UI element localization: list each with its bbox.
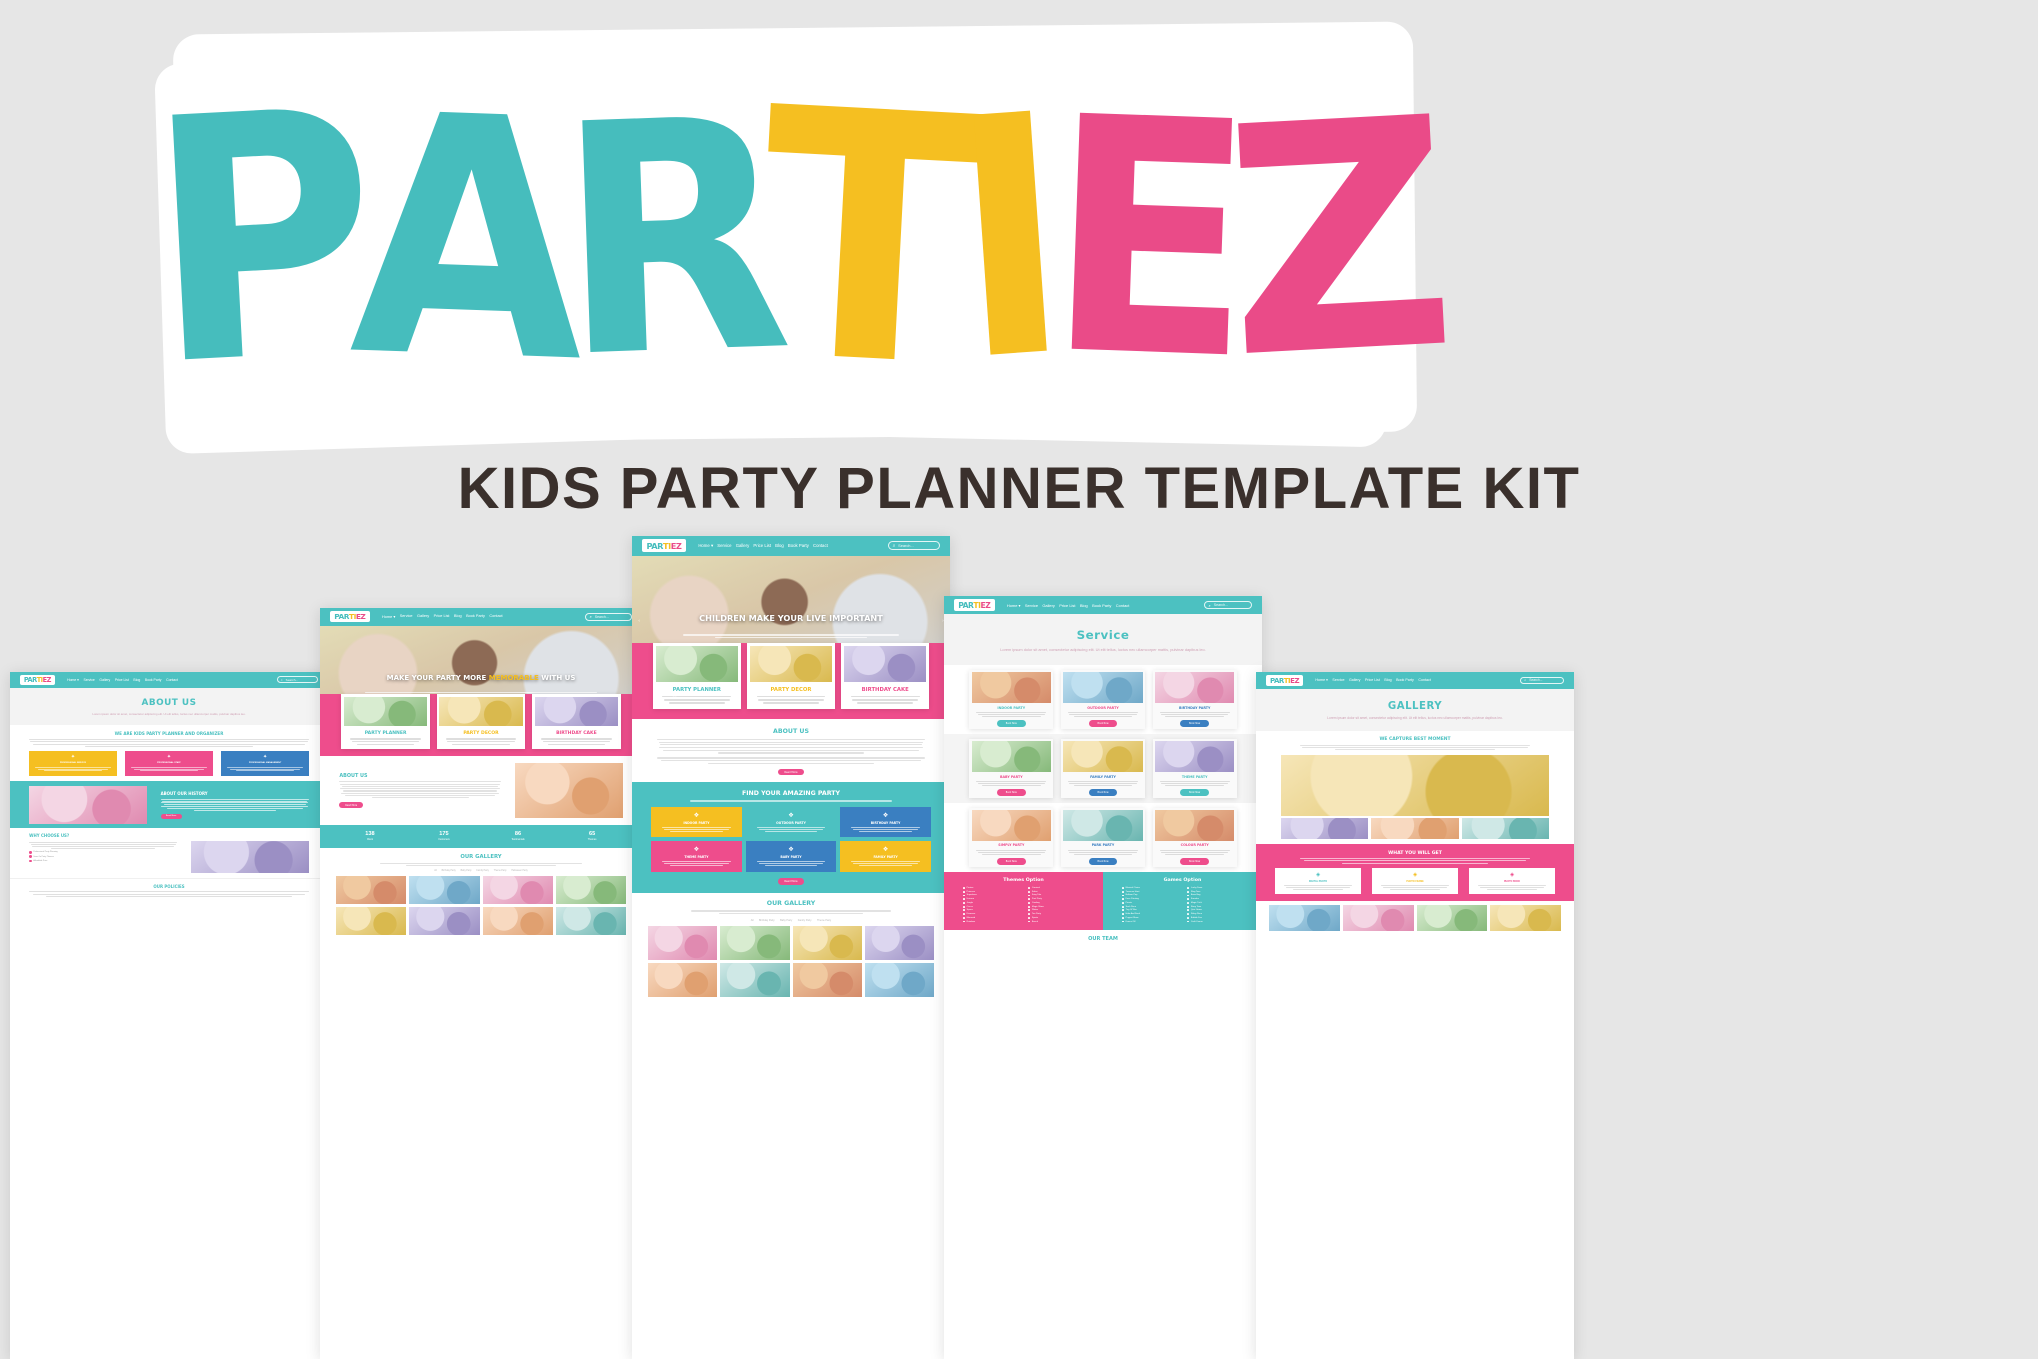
option-item[interactable]: Mermaid (963, 917, 1019, 919)
tile-label: THEME PARTY (653, 855, 739, 859)
photo-thumbnail (409, 876, 479, 904)
get-card-body (1277, 885, 1359, 889)
nav-item-book-party[interactable]: Book Party (466, 614, 485, 619)
feature-label: PROFESSIONAL MANAGEMENT (223, 762, 307, 765)
bullet-icon (963, 895, 965, 897)
option-item[interactable]: Dance Off (1122, 921, 1178, 923)
service-card[interactable]: BIRTHDAY CAKE (532, 694, 621, 749)
gallery-filter-all[interactable]: All (751, 919, 754, 922)
section-heading: WE ARE KIDS PARTY PLANNER AND ORGANIZER (29, 731, 309, 736)
book-now-button[interactable]: Book Now (1180, 858, 1209, 864)
nav-item-gallery[interactable]: Gallery (1042, 603, 1055, 608)
text-line (978, 783, 1046, 784)
page-header: GALLERYLorem ipsum dolor sit amet, conse… (1256, 689, 1574, 732)
option-item[interactable]: Hide And Seek (1122, 913, 1178, 915)
site-nav[interactable]: PARTIEZHome ▾ServiceGalleryPrice ListBlo… (944, 596, 1262, 614)
photo-thumbnail (1155, 741, 1234, 771)
option-label: Bubble Fun (1191, 917, 1202, 919)
text-line (1304, 860, 1527, 861)
what-you-get-title: WHAT YOU WILL GET (1275, 851, 1555, 856)
search-box[interactable]: ⌕Search... (277, 676, 319, 683)
stat-item: 86Testimonials (481, 831, 555, 841)
nav-brand-logo-part: EZ (980, 601, 990, 610)
nav-item-contact[interactable]: Contact (489, 614, 502, 619)
text-line (161, 806, 308, 807)
card-body-text (535, 738, 619, 745)
brand-logo: P A R T I E Z (175, 40, 1415, 440)
stat-label: Testimonials (481, 838, 555, 841)
option-item[interactable]: Superhero (963, 894, 1019, 896)
tile-label: BIRTHDAY PARTY (843, 821, 929, 825)
gallery-filter-baby-party[interactable]: Baby Party (780, 919, 792, 922)
photo-thumbnail (1063, 672, 1142, 702)
text-line (543, 741, 610, 742)
option-item[interactable]: Space (963, 909, 1019, 911)
nav-item-contact[interactable]: Contact (813, 543, 828, 549)
option-item[interactable]: Pirates (963, 887, 1019, 889)
option-list: Lucky DrawRing TossBean BagKaraokeMagic … (1187, 887, 1243, 924)
option-item[interactable]: Circus (963, 906, 1019, 908)
get-card[interactable]: ◈DIGITAL PHOTO (1275, 868, 1361, 894)
option-item[interactable]: Musical Chairs (1122, 887, 1178, 889)
check-icon (29, 860, 31, 862)
gallery-grid (336, 876, 626, 935)
service-card[interactable]: INDOOR PARTYBook Now (969, 670, 1053, 729)
check-icon (29, 851, 31, 853)
card-body-text (1063, 712, 1142, 717)
bullet-icon (1122, 887, 1124, 889)
option-item[interactable]: Magic Trick (1187, 902, 1243, 904)
find-title: FIND YOUR AMAZING PARTY (651, 790, 931, 797)
service-card[interactable]: PARTY DECOR (437, 694, 526, 749)
text-line (976, 712, 1046, 713)
option-item[interactable]: Cowboy (1028, 902, 1084, 904)
nav-brand-logo[interactable]: PARTIEZ (330, 611, 370, 622)
nav-item-blog[interactable]: Blog (1080, 603, 1088, 608)
text-line (662, 861, 731, 862)
photo-thumbnail (648, 963, 717, 997)
text-line (345, 795, 495, 796)
text-line (982, 716, 1040, 717)
text-line (715, 637, 866, 638)
service-card[interactable]: THEME PARTYBook Now (1153, 739, 1237, 798)
gallery-filter-baby-party[interactable]: Baby Party (461, 870, 472, 872)
book-now-button[interactable]: Book Now (997, 720, 1026, 726)
get-card-label: DIGITAL PHOTO (1277, 880, 1359, 883)
option-item[interactable]: Pool Party (1028, 898, 1084, 900)
nav-menu[interactable]: Home ▾ServiceGalleryPrice ListBlogBook P… (67, 678, 277, 682)
feature-label: PROFESSIONAL STAFF (127, 762, 211, 765)
nav-brand-logo[interactable]: PARTIEZ (954, 599, 995, 611)
text-line (406, 865, 556, 866)
nav-item-book-party[interactable]: Book Party (788, 543, 809, 549)
hero-title: CHILDREN MAKE YOUR LIVE IMPORTANT (645, 613, 938, 623)
section-body (29, 739, 309, 747)
bullet-icon (1028, 913, 1030, 915)
page-title: GALLERY (1275, 701, 1555, 712)
logo-letter-r: R (554, 96, 783, 383)
option-item[interactable]: Bean Bag (1187, 894, 1243, 896)
feature-card[interactable]: ✦PROFESSIONAL SERVICE (29, 751, 117, 776)
search-box[interactable]: ⌕Search... (888, 541, 941, 550)
option-item[interactable]: Fairy Tale (1028, 894, 1084, 896)
mockup-about-us-page[interactable]: PARTIEZHome ▾ServiceGalleryPrice ListBlo… (10, 672, 328, 1359)
option-item[interactable]: Unicorn (963, 898, 1019, 900)
nav-item-service[interactable]: Service (1025, 603, 1038, 608)
text-line (1286, 887, 1351, 888)
text-line (161, 802, 308, 803)
tile-icon-baby-icon: ❖ (748, 846, 834, 853)
tile-label: INDOOR PARTY (653, 821, 739, 825)
nav-item-book-party[interactable]: Book Party (1396, 678, 1414, 682)
feature-row: ✦PROFESSIONAL SERVICE✦PROFESSIONAL STAFF… (29, 751, 309, 776)
history-text: ABOUT OUR HISTORYRead More (161, 791, 309, 819)
text-line (38, 769, 109, 770)
option-item[interactable]: Beach (1028, 921, 1084, 923)
mockup-home-page-main[interactable]: PARTIEZHome ▾ServiceGalleryPrice ListBlo… (632, 536, 950, 1359)
tile-body (653, 827, 739, 832)
option-item[interactable]: Safari (1028, 891, 1084, 893)
option-item[interactable]: Carnival (1028, 887, 1084, 889)
history-section: ABOUT OUR HISTORYRead More (10, 781, 328, 828)
text-line (1165, 854, 1223, 855)
logo-letter-p: P (143, 87, 370, 393)
text-line (1161, 783, 1229, 784)
read-more-button[interactable]: Read More (339, 802, 363, 808)
text-line (341, 793, 499, 794)
gallery-filter-theme-party[interactable]: Theme Party (494, 870, 507, 872)
find-tile[interactable]: ❖OUTDOOR PARTY (746, 807, 837, 837)
option-item[interactable]: Puppet Show (1122, 917, 1178, 919)
photo-thumbnail (1281, 818, 1368, 839)
bullet-icon (1028, 887, 1030, 889)
nav-item-blog[interactable]: Blog (133, 678, 140, 682)
card-title: BIRTHDAY CAKE (535, 731, 619, 736)
stat-label: Themes (555, 838, 629, 841)
feature-card[interactable]: ✦PROFESSIONAL STAFF (125, 751, 213, 776)
text-line (670, 865, 722, 866)
photo-thumbnail (1490, 905, 1561, 931)
nav-menu[interactable]: Home ▾ServiceGalleryPrice ListBlogBook P… (382, 614, 585, 619)
nav-item-blog[interactable]: Blog (454, 614, 462, 619)
nav-item-price-list[interactable]: Price List (115, 678, 129, 682)
nav-item-blog[interactable]: Blog (1384, 678, 1391, 682)
tile-label: FAMILY PARTY (843, 855, 929, 859)
gallery-title: OUR GALLERY (648, 900, 934, 907)
option-item[interactable]: Sack Race (1122, 906, 1178, 908)
stat-label: Client (333, 838, 407, 841)
bullet-icon (1028, 909, 1030, 911)
nav-item-service[interactable]: Service (717, 543, 731, 549)
photo-thumbnail (972, 672, 1051, 702)
service-card[interactable]: BIRTHDAY CAKE (841, 643, 929, 709)
tile-label: BABY PARTY (748, 855, 834, 859)
option-item[interactable]: Karaoke (1187, 898, 1243, 900)
find-tile[interactable]: ❖INDOOR PARTY (651, 807, 742, 837)
card-title: THEME PARTY (1155, 775, 1234, 779)
service-card[interactable]: SIMPLY PARTYBook Now (969, 808, 1053, 867)
option-label: Princess (967, 891, 975, 893)
option-item[interactable]: Princess (963, 891, 1019, 893)
mockup-service-page[interactable]: PARTIEZHome ▾ServiceGalleryPrice ListBlo… (944, 596, 1262, 1359)
option-item[interactable]: Magic Show (1028, 906, 1084, 908)
text-line (33, 894, 304, 895)
option-item[interactable]: Quiz Game (1187, 909, 1243, 911)
feature-card[interactable]: ✦PROFESSIONAL MANAGEMENT (221, 751, 309, 776)
card-body-text (750, 696, 832, 704)
option-label: Craft Corner (1191, 921, 1203, 923)
service-card[interactable]: PARTY PLANNER (341, 694, 430, 749)
option-item[interactable]: Bubble Fun (1187, 917, 1243, 919)
gallery-filters[interactable]: AllBirthday PartyBaby PartyFamily PartyT… (336, 870, 626, 872)
nav-item-contact[interactable]: Contact (1418, 678, 1431, 682)
gallery-filter-theme-party[interactable]: Theme Party (817, 919, 831, 922)
text-line (763, 702, 819, 704)
get-card[interactable]: ◈PHOTO BOOK (1469, 868, 1555, 894)
book-now-button[interactable]: Book Now (997, 858, 1026, 864)
nav-item-home[interactable]: Home ▾ (1007, 603, 1021, 608)
photo-thumbnail (336, 907, 406, 935)
text-line (683, 634, 899, 635)
stat-value: 138 (333, 831, 407, 837)
nav-item-home[interactable]: Home ▾ (698, 543, 713, 549)
text-line (32, 846, 174, 847)
capture-section: WE CAPTURE BEST MOMENT (1256, 731, 1574, 844)
book-now-button[interactable]: Book Now (997, 789, 1026, 795)
option-column: Themes OptionPiratesPrincessSuperheroUni… (944, 872, 1103, 930)
option-item[interactable]: Lucky Draw (1187, 887, 1243, 889)
nav-item-service[interactable]: Service (400, 614, 413, 619)
book-now-button[interactable]: Book Now (1089, 789, 1118, 795)
card-title: BIRTHDAY PARTY (1155, 706, 1234, 710)
option-label: Quiz Game (1191, 909, 1202, 911)
text-line (1300, 745, 1530, 746)
option-list: CarnivalSafariFairy TalePool PartyCowboy… (1028, 887, 1084, 924)
nav-item-price-list[interactable]: Price List (1365, 678, 1380, 682)
text-line (1390, 889, 1440, 890)
option-item[interactable]: Jungle (963, 902, 1019, 904)
option-item[interactable]: Sports (1028, 917, 1084, 919)
about-body (339, 781, 501, 798)
text-line (978, 852, 1046, 853)
service-card[interactable]: PARTY PLANNER (653, 643, 741, 709)
option-item[interactable]: Pinata (1122, 902, 1178, 904)
service-card[interactable]: OUTDOOR PARTYBook Now (1061, 670, 1145, 729)
option-label: Superhero (967, 894, 977, 896)
find-tile[interactable]: ❖THEME PARTY (651, 841, 742, 871)
find-tile[interactable]: ❖BABY PARTY (746, 841, 837, 871)
nav-item-service[interactable]: Service (1332, 678, 1344, 682)
option-item[interactable]: Dinosaur (963, 913, 1019, 915)
option-item[interactable]: Tug Of War (1122, 909, 1178, 911)
nav-item-contact[interactable]: Contact (1116, 603, 1130, 608)
search-box[interactable]: ⌕Search... (585, 613, 632, 621)
card-body-text (1155, 712, 1234, 717)
book-now-button[interactable]: Book Now (1089, 858, 1118, 864)
site-nav[interactable]: PARTIEZHome ▾ServiceGalleryPrice ListBlo… (320, 608, 642, 626)
get-card-label: PHOTO BOOK (1471, 880, 1553, 883)
option-item[interactable]: Tea Party (1028, 913, 1084, 915)
search-placeholder: Search... (595, 615, 609, 619)
bullet-icon (1187, 891, 1189, 893)
gallery-filter-halloween-party[interactable]: Halloween Party (511, 870, 527, 872)
get-cards: ◈DIGITAL PHOTO◈PHOTO FRAME◈PHOTO BOOK (1275, 868, 1555, 894)
photo-thumbnail (344, 697, 428, 726)
nav-menu[interactable]: Home ▾ServiceGalleryPrice ListBlogBook P… (698, 543, 888, 549)
photo-thumbnail (535, 697, 619, 726)
nav-item-service[interactable]: Service (83, 678, 94, 682)
carousel-prev-icon[interactable]: ‹ (638, 618, 640, 623)
gallery-filter-family-party[interactable]: Family Party (798, 919, 812, 922)
site-nav[interactable]: PARTIEZHome ▾ServiceGalleryPrice ListBlo… (632, 536, 950, 556)
nav-item-gallery[interactable]: Gallery (1349, 678, 1360, 682)
get-card[interactable]: ◈PHOTO FRAME (1372, 868, 1458, 894)
text-line (134, 769, 205, 770)
gallery-filter-birthday-party[interactable]: Birthday Party (442, 870, 456, 872)
nav-item-price-list[interactable]: Price List (1059, 603, 1075, 608)
option-list: PiratesPrincessSuperheroUnicornJungleCir… (963, 887, 1019, 924)
option-item[interactable]: Balloon Pop (1122, 894, 1178, 896)
option-item[interactable]: Story Time (1187, 906, 1243, 908)
gallery-filters[interactable]: AllBirthday PartyBaby PartyFamily PartyT… (648, 919, 934, 922)
bullet-icon (1122, 891, 1124, 893)
nav-item-home[interactable]: Home ▾ (382, 614, 395, 619)
find-tile[interactable]: ❖BIRTHDAY PARTY (840, 807, 931, 837)
stats-band: 138Client175Customers86Testimonials65The… (320, 825, 642, 848)
nav-brand-logo-part: TI (349, 612, 356, 621)
text-line (765, 831, 817, 832)
read-more-button[interactable]: Read More (161, 814, 182, 819)
what-you-get-body (1300, 858, 1529, 863)
mockup-home-page-alt[interactable]: PARTIEZHome ▾ServiceGalleryPrice ListBlo… (320, 608, 642, 1359)
book-now-button[interactable]: Book Now (1180, 789, 1209, 795)
service-card[interactable]: PARTY DECOR (747, 643, 835, 709)
option-item[interactable]: Rainbow (963, 921, 1019, 923)
stat-item: 65Themes (555, 831, 629, 841)
option-item[interactable]: Ring Toss (1187, 891, 1243, 893)
service-card[interactable]: BIRTHDAY PARTYBook Now (1153, 670, 1237, 729)
option-label: Puppet Show (1126, 917, 1139, 919)
service-card[interactable]: FAMILY PARTYBook Now (1061, 739, 1145, 798)
option-label: Fairy Tale (1032, 894, 1041, 896)
photo-thumbnail (1063, 741, 1142, 771)
photo-thumbnail (865, 926, 934, 960)
gallery-filter-birthday-party[interactable]: Birthday Party (759, 919, 775, 922)
search-box[interactable]: ⌕Search... (1204, 601, 1253, 609)
option-item[interactable]: Treasure Hunt (1122, 891, 1178, 893)
nav-item-contact[interactable]: Contact (166, 678, 178, 682)
card-title: FAMILY PARTY (1063, 775, 1142, 779)
option-label: Carnival (1032, 887, 1040, 889)
card-body-text (1063, 781, 1142, 786)
service-card[interactable]: BABY PARTYBook Now (969, 739, 1053, 798)
nav-item-book-party[interactable]: Book Party (1092, 603, 1111, 608)
search-icon: ⌕ (1208, 603, 1210, 608)
nav-menu[interactable]: Home ▾ServiceGalleryPrice ListBlogBook P… (1315, 678, 1520, 682)
search-box[interactable]: ⌕Search... (1520, 677, 1565, 684)
bullet-icon (963, 921, 965, 923)
nav-item-price-list[interactable]: Price List (753, 543, 771, 549)
nav-item-gallery[interactable]: Gallery (736, 543, 750, 549)
site-nav[interactable]: PARTIEZHome ▾ServiceGalleryPrice ListBlo… (1256, 672, 1574, 689)
text-line (664, 829, 729, 830)
nav-brand-logo[interactable]: PARTIEZ (1266, 675, 1304, 686)
option-label: Magic Trick (1191, 902, 1202, 904)
text-line (343, 790, 496, 791)
read-more-button[interactable]: Read More (778, 769, 805, 776)
option-item[interactable]: Craft Corner (1187, 921, 1243, 923)
hero-subtitle (683, 633, 899, 640)
book-now-button[interactable]: Book Now (1180, 720, 1209, 726)
nav-item-home[interactable]: Home ▾ (67, 678, 79, 682)
search-placeholder: Search... (1529, 678, 1542, 682)
policies-body (29, 891, 309, 896)
page-subtitle-text: Lorem ipsum dolor sit amet, consectetur … (963, 647, 1243, 653)
nav-item-blog[interactable]: Blog (775, 543, 784, 549)
text-line (659, 742, 923, 743)
feature-label: PROFESSIONAL SERVICE (31, 762, 115, 765)
option-label: Sack Race (1126, 906, 1136, 908)
nav-brand-logo[interactable]: PARTIEZ (642, 539, 687, 552)
team-section: OUR TEAM (944, 930, 1262, 942)
gallery-strip (1281, 818, 1548, 839)
option-item[interactable]: Face Painting (1122, 898, 1178, 900)
nav-item-gallery[interactable]: Gallery (417, 614, 429, 619)
site-nav[interactable]: PARTIEZHome ▾ServiceGalleryPrice ListBlo… (10, 672, 328, 688)
gallery-filter-family-party[interactable]: Family Party (476, 870, 488, 872)
option-label: Face Painting (1126, 898, 1139, 900)
nav-brand-logo-part: EZ (1290, 676, 1299, 685)
nav-menu[interactable]: Home ▾ServiceGalleryPrice ListBlogBook P… (1007, 603, 1204, 608)
nav-item-home[interactable]: Home ▾ (1315, 678, 1328, 682)
option-label: Ring Toss (1191, 891, 1200, 893)
stat-item: 175Customers (407, 831, 481, 841)
card-body-text (439, 738, 523, 745)
card-body-text (844, 696, 926, 704)
book-now-button[interactable]: Book Now (1089, 720, 1118, 726)
bullet-icon (963, 891, 965, 893)
option-label: Sports (1032, 917, 1038, 919)
option-item[interactable]: Winter (1028, 909, 1084, 911)
mockup-gallery-page[interactable]: PARTIEZHome ▾ServiceGalleryPrice ListBlo… (1256, 672, 1574, 1359)
text-line (1074, 785, 1132, 786)
feature-text (223, 767, 307, 771)
bullet-icon (1028, 895, 1030, 897)
gallery-filter-all[interactable]: All (434, 870, 436, 872)
nav-item-price-list[interactable]: Price List (434, 614, 450, 619)
option-item[interactable]: Relay Race (1187, 913, 1243, 915)
read-more-button[interactable]: Read More (778, 878, 805, 885)
find-tile[interactable]: ❖FAMILY PARTY (840, 841, 931, 871)
option-label: Pinata (1126, 902, 1132, 904)
card-body-text (656, 696, 738, 704)
card-body-text (972, 781, 1051, 786)
bullet-icon (1122, 913, 1124, 915)
service-card[interactable]: PARK PARTYBook Now (1061, 808, 1145, 867)
about-body (657, 739, 924, 754)
text-line (853, 829, 918, 830)
nav-brand-logo-part: EZ (43, 676, 51, 684)
card-title: PARTY DECOR (439, 731, 523, 736)
search-placeholder: Search... (898, 543, 914, 548)
service-card[interactable]: COLOUR PARTYBook Now (1153, 808, 1237, 867)
nav-item-book-party[interactable]: Book Party (145, 678, 162, 682)
option-title: Themes Option (963, 878, 1084, 883)
nav-item-gallery[interactable]: Gallery (99, 678, 110, 682)
section-heading: WE CAPTURE BEST MOMENT (1281, 737, 1548, 742)
nav-brand-logo[interactable]: PARTIEZ (20, 675, 56, 685)
nav-brand-logo-part: EZ (356, 612, 365, 621)
